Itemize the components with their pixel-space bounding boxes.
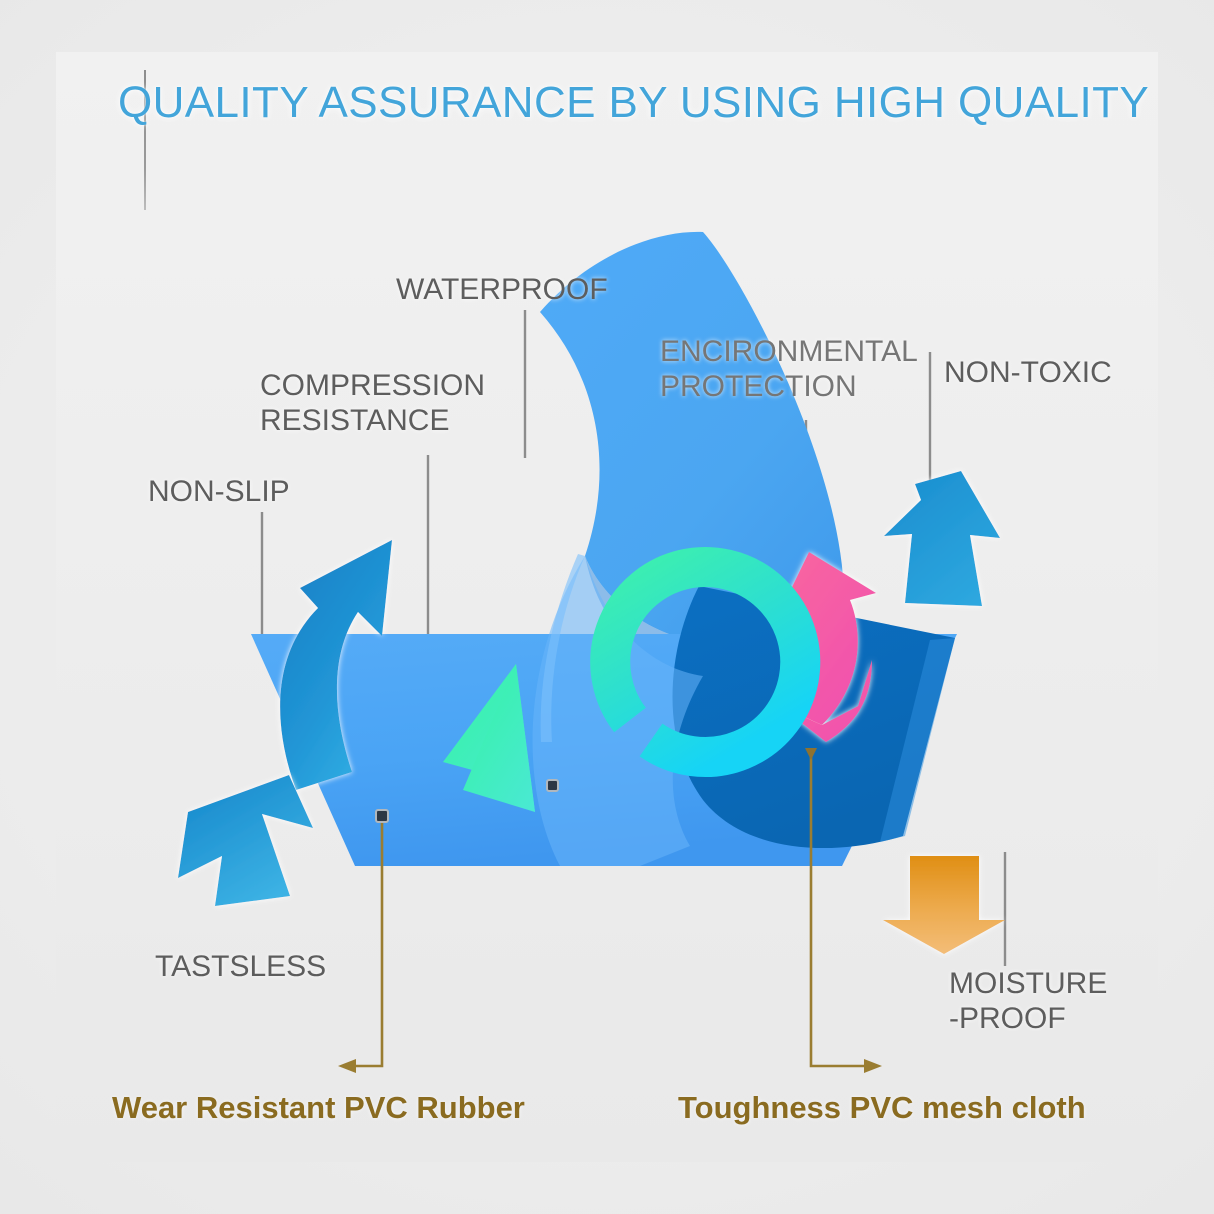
down-arrow-orange-icon <box>883 856 1005 954</box>
arrowhead-right <box>864 1059 882 1073</box>
arrowhead-left <box>338 1059 356 1073</box>
infographic-canvas: QUALITY ASSURANCE BY USING HIGH QUALITY <box>0 0 1214 1214</box>
feature-label-compression: COMPRESSION RESISTANCE <box>260 368 485 438</box>
feature-label-non-slip: NON-SLIP <box>148 474 290 509</box>
leader-arrowheads-gold <box>338 1059 882 1073</box>
feature-label-moisture-proof: MOISTURE -PROOF <box>949 966 1107 1036</box>
feature-label-environmental: ENCIRONMENTAL PROTECTION <box>660 334 918 404</box>
feature-label-non-toxic: NON-TOXIC <box>944 355 1112 390</box>
feature-label-waterproof: WATERPROOF <box>396 272 608 307</box>
anchor-point-mat-center <box>547 780 558 791</box>
callout-wear-resistant-pvc-rubber: Wear Resistant PVC Rubber <box>112 1090 525 1126</box>
callout-toughness-pvc-mesh-cloth: Toughness PVC mesh cloth <box>678 1090 1086 1126</box>
anchor-point-rubber <box>376 810 388 822</box>
feature-label-tastsless: TASTSLESS <box>155 949 326 984</box>
up-arrow-blue-icon <box>884 471 1000 606</box>
down-left-arrow-blue-icon <box>178 775 313 906</box>
